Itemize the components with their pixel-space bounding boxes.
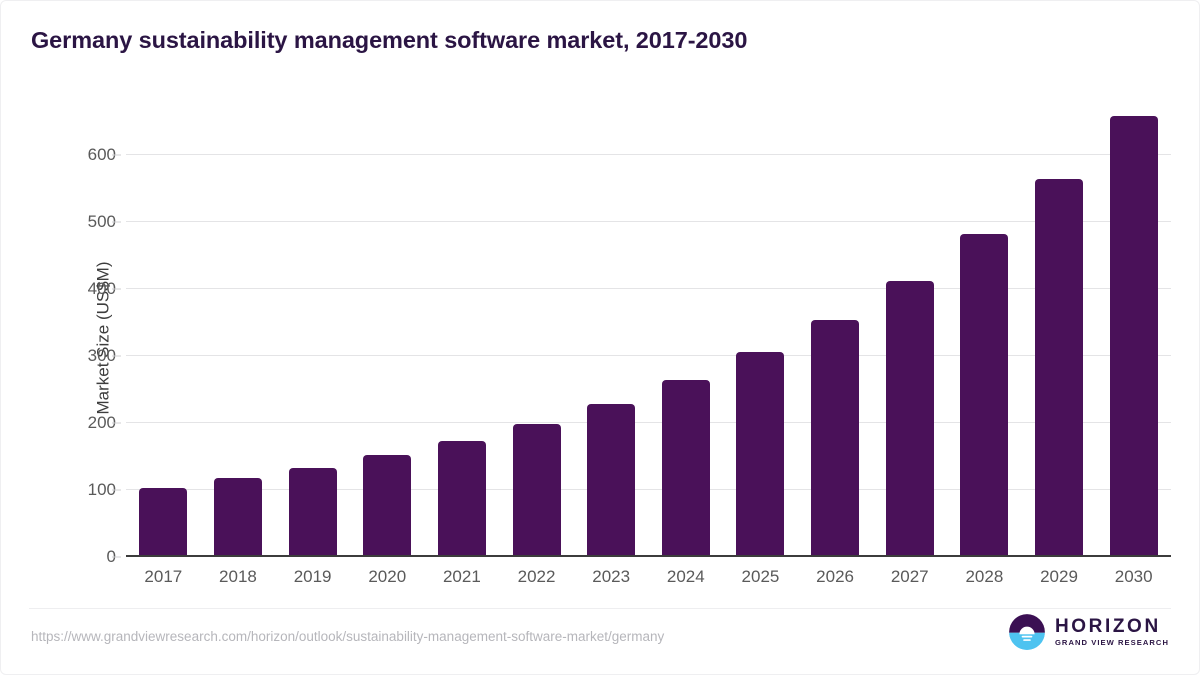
bar-2025[interactable] xyxy=(736,352,784,557)
bar-2018[interactable] xyxy=(214,478,262,557)
bar-slot xyxy=(275,101,350,557)
bar-slot xyxy=(723,101,798,557)
bar-slot xyxy=(425,101,500,557)
x-axis-tick-label: 2022 xyxy=(499,567,574,587)
bar-2022[interactable] xyxy=(513,424,561,557)
x-axis-tick-label: 2027 xyxy=(872,567,947,587)
bar-slot xyxy=(574,101,649,557)
bar-2029[interactable] xyxy=(1035,179,1083,557)
y-axis-tick-mark xyxy=(112,422,121,423)
x-axis-tick-label: 2017 xyxy=(126,567,201,587)
x-axis-tick-label: 2024 xyxy=(648,567,723,587)
bar-slot xyxy=(201,101,276,557)
chart-page: Germany sustainability management softwa… xyxy=(0,0,1200,675)
bar-slot xyxy=(872,101,947,557)
bar-2017[interactable] xyxy=(139,488,187,557)
x-axis-tick-label: 2026 xyxy=(798,567,873,587)
bar-2021[interactable] xyxy=(438,441,486,557)
bar-2028[interactable] xyxy=(960,234,1008,557)
bar-slot xyxy=(499,101,574,557)
y-axis-tick-mark xyxy=(112,288,121,289)
x-axis-line xyxy=(126,555,1171,557)
bar-2030[interactable] xyxy=(1110,116,1158,557)
x-axis-tick-label: 2030 xyxy=(1096,567,1171,587)
y-axis-tick-mark xyxy=(112,489,121,490)
source-url[interactable]: https://www.grandviewresearch.com/horizo… xyxy=(31,629,664,644)
bar-slot xyxy=(1022,101,1097,557)
x-axis-tick-label: 2018 xyxy=(201,567,276,587)
y-axis-tick-mark xyxy=(112,154,121,155)
logo-text: HORIZON GRAND VIEW RESEARCH xyxy=(1055,617,1169,647)
bar-slot xyxy=(798,101,873,557)
y-axis-tick-mark xyxy=(112,557,121,558)
x-axis-tick-label: 2025 xyxy=(723,567,798,587)
x-axis-tick-label: 2019 xyxy=(275,567,350,587)
bar-series xyxy=(126,101,1171,557)
bar-slot xyxy=(1096,101,1171,557)
logo-wordmark: HORIZON xyxy=(1055,617,1169,637)
footer-divider xyxy=(29,608,1171,609)
x-axis-ticks: 2017201820192020202120222023202420252026… xyxy=(126,567,1171,587)
bar-slot xyxy=(648,101,723,557)
bar-slot xyxy=(350,101,425,557)
x-axis-tick-label: 2020 xyxy=(350,567,425,587)
page-title: Germany sustainability management softwa… xyxy=(31,27,747,54)
y-axis-tick-label: 600 xyxy=(56,145,116,165)
y-axis-tick-label: 500 xyxy=(56,212,116,232)
y-axis-tick-label: 100 xyxy=(56,480,116,500)
bar-2020[interactable] xyxy=(363,455,411,557)
x-axis-tick-label: 2021 xyxy=(425,567,500,587)
bar-2023[interactable] xyxy=(587,404,635,557)
y-axis-tick-label: 300 xyxy=(56,346,116,366)
y-axis-tick-label: 200 xyxy=(56,413,116,433)
y-axis-tick-mark xyxy=(112,355,121,356)
logo-tagline: GRAND VIEW RESEARCH xyxy=(1055,638,1169,647)
bar-slot xyxy=(126,101,201,557)
y-axis-tick-label: 0 xyxy=(56,547,116,567)
x-axis-tick-label: 2029 xyxy=(1022,567,1097,587)
x-axis-tick-label: 2028 xyxy=(947,567,1022,587)
plot-area: 0100200300400500600 xyxy=(126,101,1171,557)
y-axis-tick-label: 400 xyxy=(56,279,116,299)
bar-2019[interactable] xyxy=(289,468,337,557)
x-axis-tick-label: 2023 xyxy=(574,567,649,587)
bar-2026[interactable] xyxy=(811,320,859,557)
horizon-logo: HORIZON GRAND VIEW RESEARCH xyxy=(1008,613,1169,651)
bar-slot xyxy=(947,101,1022,557)
y-axis-tick-mark xyxy=(112,221,121,222)
horizon-sun-circle-icon xyxy=(1008,613,1046,651)
bar-2027[interactable] xyxy=(886,281,934,557)
bar-2024[interactable] xyxy=(662,380,710,557)
